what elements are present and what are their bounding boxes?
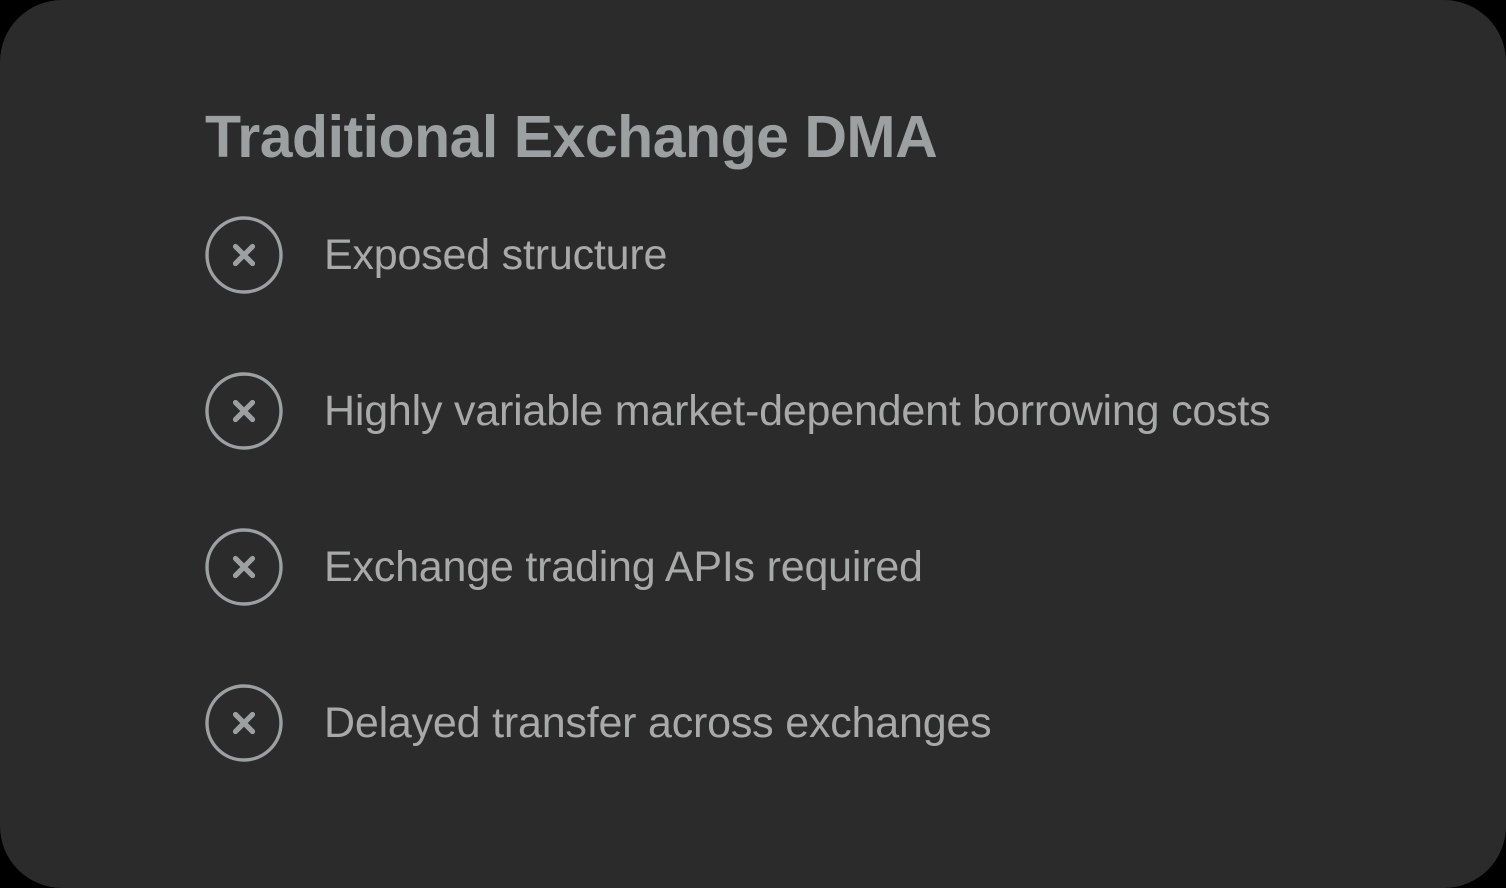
list-item-label: Exposed structure [324, 234, 667, 277]
list-item: Delayed transfer across exchanges [205, 684, 991, 762]
circle-x-icon [205, 528, 283, 606]
list-item-label: Exchange trading APIs required [324, 546, 923, 589]
circle-x-icon [205, 372, 283, 450]
comparison-card: Traditional Exchange DMA Exposed structu… [0, 0, 1506, 888]
list-item-label: Delayed transfer across exchanges [324, 702, 991, 745]
circle-x-icon [205, 684, 283, 762]
list-item: Exchange trading APIs required [205, 528, 923, 606]
circle-x-icon [205, 216, 283, 294]
list-item: Exposed structure [205, 216, 667, 294]
list-item: Highly variable market-dependent borrowi… [205, 372, 1270, 450]
list-item-label: Highly variable market-dependent borrowi… [324, 390, 1270, 433]
page-title: Traditional Exchange DMA [205, 106, 937, 169]
